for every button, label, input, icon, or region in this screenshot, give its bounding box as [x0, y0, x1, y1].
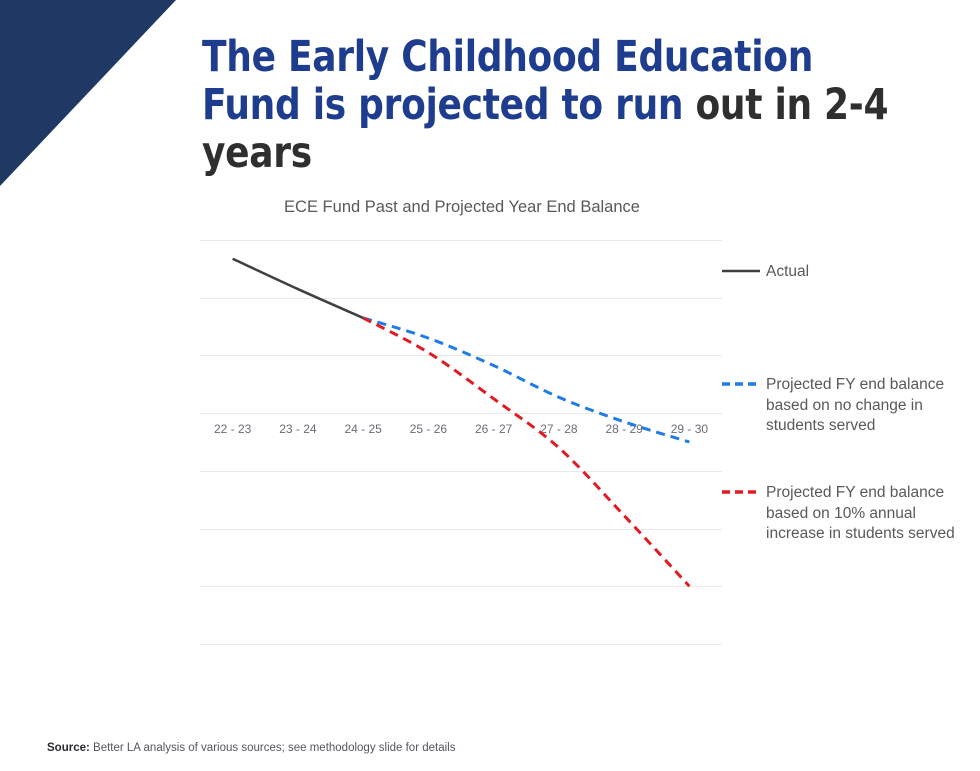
legend-swatch-projected-ten-percent-icon: [722, 483, 760, 500]
chart-series-line: [363, 318, 689, 586]
page-title: The Early Childhood Education Fund is pr…: [202, 33, 924, 177]
legend-swatch-projected-no-change-icon: [722, 375, 760, 392]
chart-series-line: [233, 259, 364, 318]
chart-container: ECE Fund Past and Projected Year End Bal…: [0, 190, 980, 690]
legend-item-actual[interactable]: Actual: [722, 262, 970, 283]
legend-item-projected-ten-percent[interactable]: Projected FY end balance based on 10% an…: [722, 483, 970, 545]
source-note: Source: Better LA analysis of various so…: [47, 742, 455, 754]
chart-plot-area: $60,000,000$40,000,000$20,000,000$0-$20,…: [200, 240, 722, 644]
legend-label: Projected FY end balance based on no cha…: [766, 375, 970, 437]
legend-item-projected-no-change[interactable]: Projected FY end balance based on no cha…: [722, 375, 970, 437]
chart-series-line: [363, 318, 689, 442]
gridline: [200, 644, 722, 645]
chart-legend: ActualProjected FY end balance based on …: [722, 240, 972, 644]
source-text: Better LA analysis of various sources; s…: [90, 742, 456, 754]
corner-accent-triangle: [0, 0, 176, 186]
chart-title: ECE Fund Past and Projected Year End Bal…: [200, 198, 724, 217]
legend-label: Actual: [766, 262, 809, 283]
chart-series-layer: [200, 240, 722, 644]
source-label: Source:: [47, 742, 90, 754]
legend-swatch-actual-icon: [722, 262, 760, 279]
legend-label: Projected FY end balance based on 10% an…: [766, 483, 970, 545]
